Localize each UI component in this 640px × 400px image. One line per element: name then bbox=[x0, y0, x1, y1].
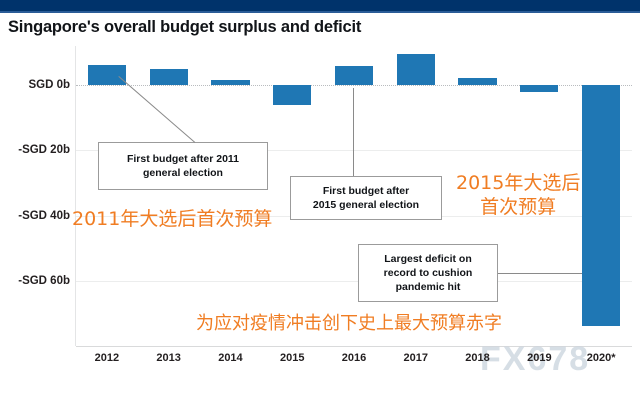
x-axis-line bbox=[76, 346, 632, 347]
annotation-cn-2015: 2015年大选后 首次预算 bbox=[456, 172, 580, 220]
gridline bbox=[76, 281, 632, 282]
y-axis-label: SGD 0b bbox=[0, 79, 70, 91]
callout2-line2: 2015 general election bbox=[313, 199, 419, 211]
leader-line-pandemic bbox=[498, 273, 582, 274]
bar-2015 bbox=[273, 85, 311, 105]
annotation-cn-2011: 2011年大选后首次预算 bbox=[72, 208, 272, 232]
bar-2019 bbox=[520, 85, 558, 92]
x-axis-label: 2016 bbox=[342, 352, 366, 364]
annotation-cn-2015-line2: 首次预算 bbox=[456, 196, 580, 220]
x-axis-label: 2020* bbox=[587, 352, 616, 364]
callout-largest-deficit: Largest deficit on record to cushion pan… bbox=[358, 244, 498, 302]
chart-screenshot: Singapore's overall budget surplus and d… bbox=[0, 0, 640, 400]
callout3-line3: pandemic hit bbox=[396, 281, 461, 293]
x-axis-label: 2014 bbox=[218, 352, 242, 364]
chart-title: Singapore's overall budget surplus and d… bbox=[8, 18, 608, 37]
x-axis-label: 2019 bbox=[527, 352, 551, 364]
x-axis-label: 2018 bbox=[465, 352, 489, 364]
callout1-line2: general election bbox=[143, 167, 223, 179]
bar-2018 bbox=[458, 78, 496, 85]
annotation-cn-2015-line1: 2015年大选后 bbox=[456, 172, 580, 196]
callout-first-budget-2011: First budget after 2011 general election bbox=[98, 142, 268, 190]
leader-line-2015 bbox=[353, 88, 354, 176]
top-accent-bar bbox=[0, 0, 640, 11]
y-axis-label: -SGD 40b bbox=[0, 210, 70, 222]
bar-2020 bbox=[582, 85, 620, 326]
bar-2016 bbox=[335, 66, 373, 85]
x-axis-label: 2012 bbox=[95, 352, 119, 364]
bar-2013 bbox=[150, 69, 188, 85]
callout-first-budget-2015: First budget after 2015 general election bbox=[290, 176, 442, 220]
x-axis-label: 2017 bbox=[404, 352, 428, 364]
callout3-line2: record to cushion bbox=[384, 267, 473, 279]
callout2-line1: First budget after bbox=[323, 185, 409, 197]
callout1-line1: First budget after 2011 bbox=[127, 153, 239, 165]
x-axis-label: 2013 bbox=[156, 352, 180, 364]
x-axis-label: 2015 bbox=[280, 352, 304, 364]
annotation-cn-pandemic: 为应对疫情冲击创下史上最大预算赤字 bbox=[196, 313, 502, 336]
bar-2017 bbox=[397, 54, 435, 85]
bar-2014 bbox=[211, 80, 249, 85]
top-accent-bar-edge bbox=[0, 11, 640, 13]
y-axis-label: -SGD 20b bbox=[0, 144, 70, 156]
bar-2012 bbox=[88, 65, 126, 85]
y-axis-label: -SGD 60b bbox=[0, 275, 70, 287]
callout3-line1: Largest deficit on bbox=[384, 253, 472, 265]
